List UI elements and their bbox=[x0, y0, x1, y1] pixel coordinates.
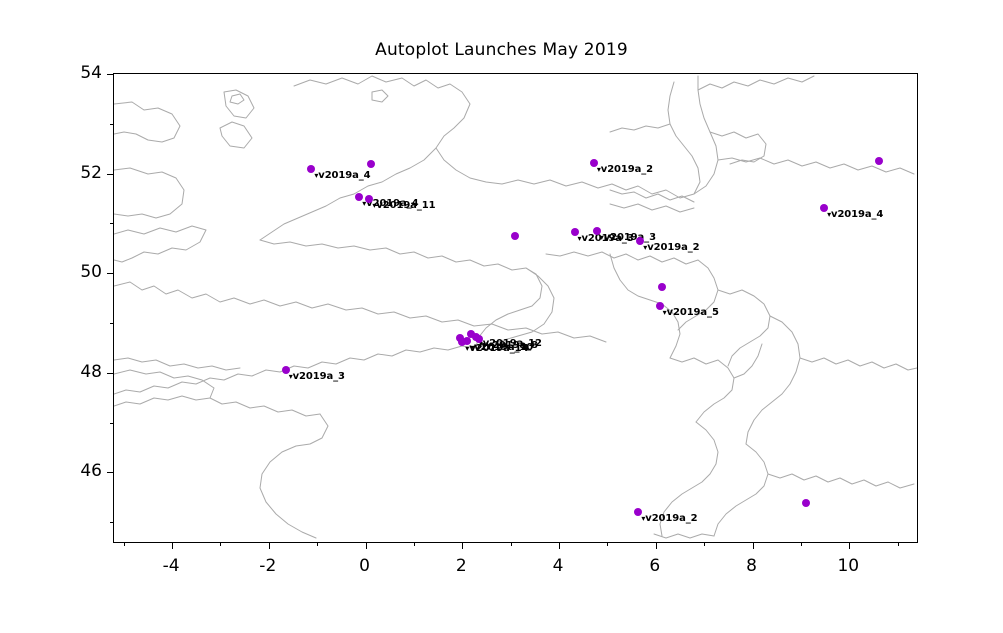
x-axis-minor-tick bbox=[317, 542, 318, 546]
data-point-label: v2019a_2 bbox=[597, 165, 653, 175]
data-point-label: v2019a_4 bbox=[314, 171, 370, 181]
x-axis-tick bbox=[753, 542, 754, 549]
x-axis-tick-label: 2 bbox=[456, 556, 467, 576]
x-axis-minor-tick bbox=[124, 542, 125, 546]
map-axes: v2019a_4v2019a_4v2019a_11v2019a_2v2019a_… bbox=[113, 73, 918, 543]
x-axis-tick-label: 4 bbox=[553, 556, 564, 576]
y-axis-tick bbox=[107, 373, 114, 374]
x-axis-minor-tick bbox=[511, 542, 512, 546]
data-point-marker[interactable] bbox=[875, 157, 883, 165]
x-axis-tick-label: 10 bbox=[837, 556, 859, 576]
x-axis-tick bbox=[462, 542, 463, 549]
data-point-label: v2019a_11 bbox=[372, 201, 435, 211]
data-point-label: v2019a_2 bbox=[641, 514, 697, 524]
x-axis-tick bbox=[656, 542, 657, 549]
y-axis-tick-label: 52 bbox=[60, 163, 102, 183]
x-axis-minor-tick bbox=[414, 542, 415, 546]
coastline-layer bbox=[114, 74, 917, 542]
data-point-marker[interactable] bbox=[367, 160, 375, 168]
x-axis-tick-label: -2 bbox=[259, 556, 276, 576]
x-axis-tick bbox=[366, 542, 367, 549]
x-axis-tick bbox=[559, 542, 560, 549]
y-axis-minor-tick bbox=[110, 124, 114, 125]
y-axis-minor-tick bbox=[110, 522, 114, 523]
y-axis-tick-label: 46 bbox=[60, 461, 102, 481]
x-axis-tick-label: 8 bbox=[746, 556, 757, 576]
data-point-marker[interactable] bbox=[802, 499, 810, 507]
y-axis-tick-label: 54 bbox=[60, 63, 102, 83]
data-point-marker[interactable] bbox=[511, 232, 519, 240]
data-point-label: v2019a_2 bbox=[643, 243, 699, 253]
y-axis-tick bbox=[107, 472, 114, 473]
data-point-marker[interactable] bbox=[658, 283, 666, 291]
y-axis-tick bbox=[107, 174, 114, 175]
x-axis-tick bbox=[849, 542, 850, 549]
x-axis-minor-tick bbox=[220, 542, 221, 546]
y-axis-tick-label: 50 bbox=[60, 262, 102, 282]
x-axis-tick bbox=[269, 542, 270, 549]
page-title: Autoplot Launches May 2019 bbox=[0, 40, 1003, 60]
data-point-label: v2019a_3 bbox=[289, 372, 345, 382]
y-axis-minor-tick bbox=[110, 223, 114, 224]
x-axis-tick bbox=[172, 542, 173, 549]
y-axis-tick bbox=[107, 74, 114, 75]
y-axis-tick-label: 48 bbox=[60, 362, 102, 382]
data-point-label: v2019a_14 bbox=[465, 344, 528, 354]
data-point-label: v2019a_4 bbox=[827, 210, 883, 220]
x-axis-minor-tick bbox=[607, 542, 608, 546]
y-axis-minor-tick bbox=[110, 423, 114, 424]
y-axis-tick bbox=[107, 273, 114, 274]
data-point-label: v2019a_5 bbox=[663, 308, 719, 318]
figure-canvas: Autoplot Launches May 2019 bbox=[0, 0, 1003, 633]
x-axis-tick-label: 0 bbox=[359, 556, 370, 576]
x-axis-minor-tick bbox=[801, 542, 802, 546]
x-axis-tick-label: 6 bbox=[649, 556, 660, 576]
coastline-svg bbox=[114, 74, 917, 542]
x-axis-tick-label: -4 bbox=[163, 556, 180, 576]
x-axis-minor-tick bbox=[704, 542, 705, 546]
y-axis-minor-tick bbox=[110, 323, 114, 324]
x-axis-minor-tick bbox=[898, 542, 899, 546]
